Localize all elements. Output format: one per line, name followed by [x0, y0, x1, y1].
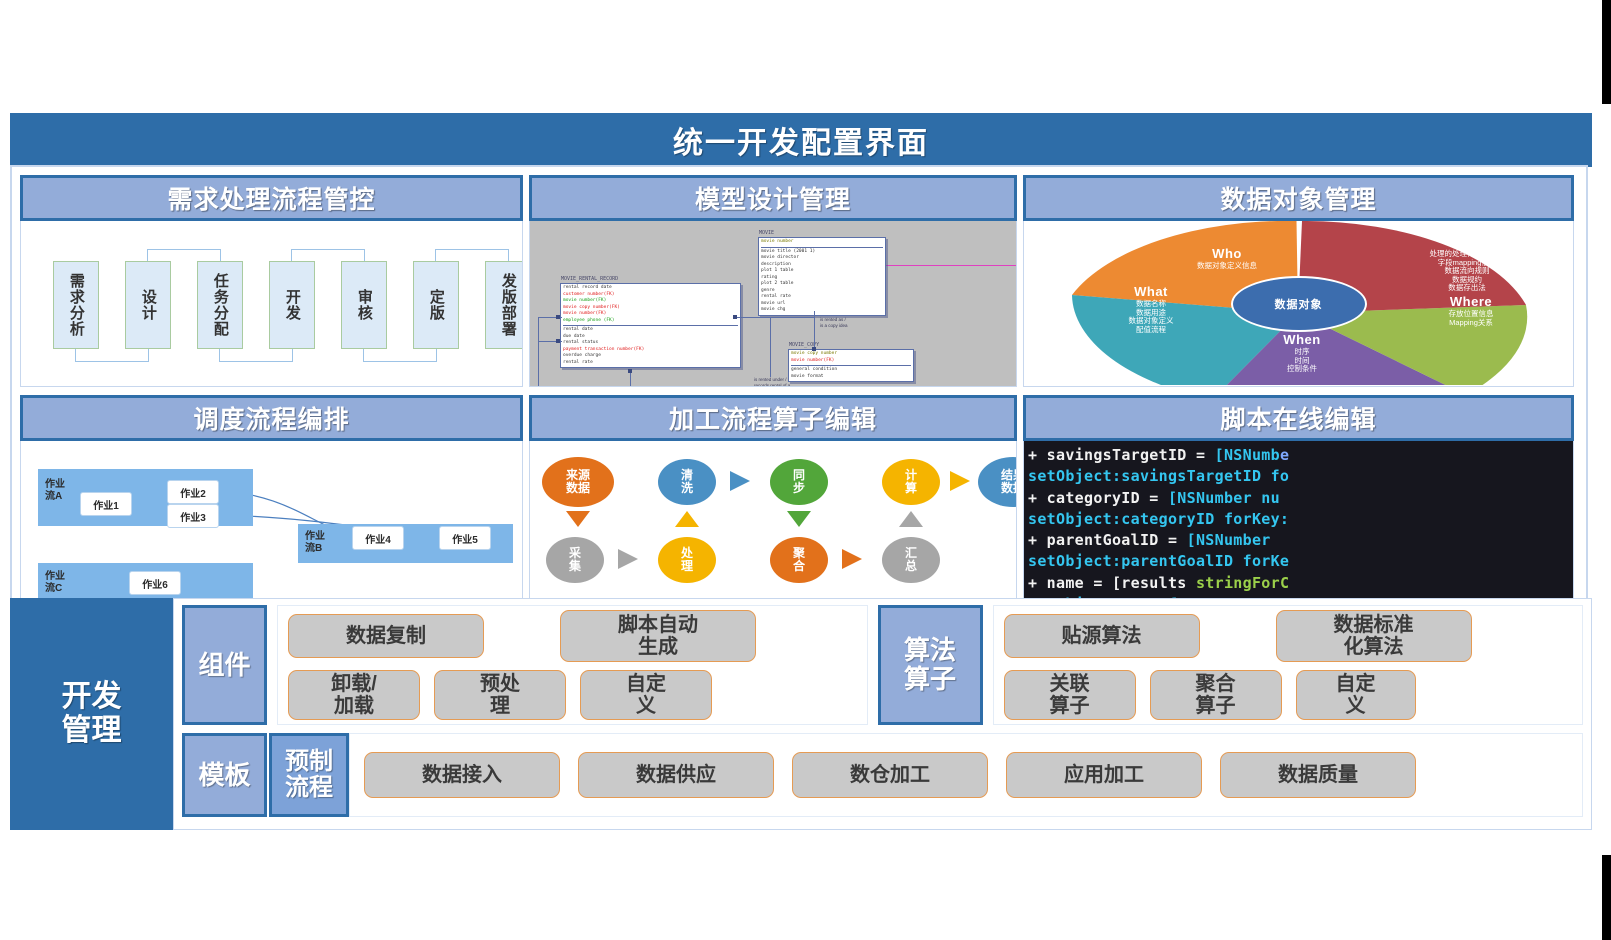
pill-warehouse-process[interactable]: 数仓加工: [792, 752, 988, 798]
arrow-up-process-cleanse: [675, 511, 699, 527]
panel-model-design-body: MOVIE movie number movie title (2001 1) …: [529, 221, 1017, 387]
panel-model-design-header: 模型设计管理: [529, 175, 1017, 221]
panel-data-object-body: Who 数据对象定义信息 What 数据名称 数据用途 数据对象定义 配值流程 …: [1023, 221, 1574, 387]
panel-scheduling-title: 调度流程编排: [193, 400, 349, 436]
panel-operators-title: 加工流程算子编辑: [669, 400, 877, 436]
category-prebuilt-flow[interactable]: 预制 流程: [269, 733, 349, 817]
operator-compute[interactable]: 计 算: [882, 459, 940, 505]
main-title-bar: 统一开发配置界面: [10, 113, 1592, 167]
algorithm-row-top: 贴源算法 数据标准 化算法: [1004, 610, 1573, 662]
category-template-label: 模板: [198, 761, 250, 790]
panel-operators-header: 加工流程算子编辑: [529, 395, 1017, 441]
pill-unload-load[interactable]: 卸载/ 加载: [288, 670, 420, 720]
flow-step-task-assign[interactable]: 任务分配: [197, 261, 243, 349]
panel-scheduling-header: 调度流程编排: [20, 395, 523, 441]
right-edge-strip-bottom: [1602, 855, 1611, 940]
job-2[interactable]: 作业2: [167, 480, 219, 504]
components-row-bottom: 卸载/ 加载 预处 理 自定 义: [288, 670, 857, 720]
pie-label-where: Where 存放位置信息 Mapping关系: [1396, 295, 1546, 327]
er-field: employee phone (FK): [563, 318, 738, 325]
code-line: setObject:parentGoalID forKe: [1028, 551, 1573, 572]
job-flow-a[interactable]: 作业 流A: [38, 469, 253, 526]
er-note-1: is rented as / is a copy idea: [820, 317, 848, 329]
pie-label-when: When 时序 时间 控制条件: [1242, 333, 1362, 374]
flow-connector-1: [75, 347, 149, 362]
panel-requirement[interactable]: 需求处理流程管控 需求分析 设计 任务分配 开发 审核 定版: [20, 175, 523, 387]
flow-step-requirement-analysis[interactable]: 需求分析: [53, 261, 99, 349]
dev-management-section: 开发 管理 组件 数据复制 脚本自动 生成 卸载/ 加载 预处 理 自定 义 算…: [10, 598, 1592, 830]
panel-requirement-header: 需求处理流程管控: [20, 175, 523, 221]
panel-script-editor-title: 脚本在线编辑: [1220, 400, 1376, 436]
er-note-2: is rented under / records rental of a: [754, 377, 790, 387]
er-table-movie-caption: MOVIE: [759, 230, 774, 237]
code-line: + categoryID = [NSNumber nu: [1028, 488, 1573, 509]
dev-management-label: 开发 管理: [62, 680, 122, 747]
flow-step-development[interactable]: 开发: [269, 261, 315, 349]
er-line-v2: [770, 317, 771, 377]
job-flow-c-label: 作业 流C: [45, 571, 65, 594]
code-line: setObject:savingsTargetID fo: [1028, 466, 1573, 487]
er-line-v3: [538, 317, 539, 387]
pill-data-supply[interactable]: 数据供应: [578, 752, 774, 798]
operator-summarize[interactable]: 汇 总: [882, 537, 940, 583]
pie-label-what: What 数据名称 数据用途 数据对象定义 配值流程: [1086, 285, 1216, 334]
job-3[interactable]: 作业3: [167, 504, 219, 528]
components-row-top: 数据复制 脚本自动 生成: [288, 610, 857, 662]
operator-cleanse[interactable]: 清 洗: [658, 459, 716, 505]
panel-model-design-title: 模型设计管理: [695, 180, 851, 216]
category-template[interactable]: 模板: [182, 733, 267, 817]
panel-data-object-header: 数据对象管理: [1023, 175, 1574, 221]
er-table-movie[interactable]: MOVIE movie number movie title (2001 1) …: [758, 237, 886, 316]
code-line: setObject:categoryID forKey:: [1028, 509, 1573, 530]
arrow-right-cleanse-sync: [730, 471, 750, 491]
arrow-up-summarize-compute: [899, 511, 923, 527]
operator-result-data[interactable]: 结果 数据: [978, 457, 1017, 507]
pill-data-ingestion[interactable]: 数据接入: [364, 752, 560, 798]
job-1[interactable]: 作业1: [80, 492, 132, 516]
arrow-down-sync-aggregate: [787, 511, 811, 527]
er-dot-6: [628, 369, 632, 373]
flow-step-release-deploy[interactable]: 发版部署: [485, 261, 523, 349]
er-dot-5: [812, 347, 816, 351]
dev-row-components: 组件 数据复制 脚本自动 生成 卸载/ 加载 预处 理 自定 义 算法 算子 贴…: [174, 599, 1591, 729]
code-line: + name = [results stringForC: [1028, 573, 1573, 594]
category-prebuilt-flow-label: 预制 流程: [285, 749, 333, 802]
panels-container: 需求处理流程管控 需求分析 设计 任务分配 开发 审核 定版: [10, 165, 1588, 639]
panel-data-object[interactable]: 数据对象管理: [1023, 175, 1574, 387]
panel-script-editor-header: 脚本在线编辑: [1023, 395, 1574, 441]
category-components-label: 组件: [198, 651, 250, 680]
flow-step-finalize[interactable]: 定版: [413, 261, 459, 349]
arrow-right-aggregate-summarize: [842, 549, 862, 569]
pie-center-label: 数据对象: [1275, 296, 1323, 312]
operator-aggregate[interactable]: 聚 合: [770, 537, 828, 583]
pill-data-replication[interactable]: 数据复制: [288, 614, 484, 658]
pie-label-who: Who 数据对象定义信息: [1152, 247, 1302, 271]
er-field: movie number: [761, 239, 883, 246]
er-table-movie-rental-record[interactable]: MOVIE_RENTAL_RECORD rental record date c…: [560, 283, 741, 368]
operator-source-data[interactable]: 来源 数据: [542, 457, 614, 507]
category-components[interactable]: 组件: [182, 605, 267, 725]
pill-source-algorithm[interactable]: 贴源算法: [1004, 614, 1200, 658]
category-algorithm-operators[interactable]: 算法 算子: [878, 605, 983, 725]
code-line: + parentGoalID = [NSNumber: [1028, 530, 1573, 551]
job-5[interactable]: 作业5: [439, 526, 491, 550]
er-relation-line-pink: [882, 265, 1017, 266]
er-field: movie chg: [761, 307, 883, 314]
pill-script-auto-generate[interactable]: 脚本自动 生成: [560, 610, 756, 662]
job-6[interactable]: 作业6: [129, 571, 181, 595]
job-flow-b-label: 作业 流B: [305, 531, 325, 554]
components-group: 数据复制 脚本自动 生成 卸载/ 加载 预处 理 自定 义: [277, 605, 868, 725]
flow-step-design[interactable]: 设计: [125, 261, 171, 349]
flow-connector-5: [363, 347, 437, 362]
right-edge-strip-top: [1602, 0, 1611, 104]
arrow-down-source-collect: [566, 511, 590, 527]
pill-preprocess[interactable]: 预处 理: [434, 670, 566, 720]
er-field: movie number(FK): [791, 358, 911, 365]
pie-label-how: How 处理的处理作业等方法 字段mapping信息 数据流向规则 数据规约 数…: [1382, 235, 1552, 293]
pill-custom-component[interactable]: 自定 义: [580, 670, 712, 720]
category-algorithm-operators-label: 算法 算子: [904, 636, 956, 693]
pie-center-bubble[interactable]: 数据对象: [1231, 276, 1367, 332]
er-field: movie format: [791, 374, 911, 381]
template-pills-box: 数据接入 数据供应 数仓加工 应用加工 数据质量: [349, 733, 1583, 817]
algorithm-row-bottom: 关联 算子 聚合 算子 自定 义: [1004, 670, 1573, 720]
dev-management-label-box: 开发 管理: [10, 598, 173, 830]
er-dot-3: [556, 339, 560, 343]
operator-process[interactable]: 处 理: [658, 537, 716, 583]
operator-sync[interactable]: 同 步: [770, 459, 828, 505]
er-table-rental-caption: MOVIE_RENTAL_RECORD: [561, 276, 618, 283]
job-flow-a-label: 作业 流A: [45, 479, 65, 502]
dev-row-templates: 模板 预制 流程 数据接入 数据供应 数仓加工 应用加工 数据质量: [174, 729, 1591, 825]
panel-requirement-title: 需求处理流程管控: [167, 180, 375, 216]
arrow-right-collect-process: [618, 549, 638, 569]
flow-connector-3: [219, 347, 293, 362]
er-diagram: MOVIE movie number movie title (2001 1) …: [530, 221, 1016, 386]
panel-data-object-title: 数据对象管理: [1220, 180, 1376, 216]
er-line-v4: [630, 371, 631, 387]
page-title: 统一开发配置界面: [673, 118, 929, 162]
er-dot-2: [556, 315, 560, 319]
er-field: rental rate: [563, 360, 738, 367]
panel-model-design[interactable]: 模型设计管理 MOVIE movie number movie title (2…: [529, 175, 1017, 387]
pill-join-operator[interactable]: 关联 算子: [1004, 670, 1136, 720]
data-object-pie-chart: Who 数据对象定义信息 What 数据名称 数据用途 数据对象定义 配值流程 …: [1024, 221, 1573, 386]
er-line-h1: [735, 317, 815, 318]
pill-aggregate-operator[interactable]: 聚合 算子: [1150, 670, 1282, 720]
er-table-movie-copy[interactable]: MOVIE_COPY movie copy number movie numbe…: [788, 349, 914, 382]
pill-application-process[interactable]: 应用加工: [1006, 752, 1202, 798]
job-4[interactable]: 作业4: [352, 526, 404, 550]
dev-management-content: 组件 数据复制 脚本自动 生成 卸载/ 加载 预处 理 自定 义 算法 算子 贴…: [173, 598, 1592, 830]
flow-step-review[interactable]: 审核: [341, 261, 387, 349]
arrow-right-compute-result: [950, 471, 970, 491]
pill-data-standardization-algorithm[interactable]: 数据标准 化算法: [1276, 610, 1472, 662]
operator-collect[interactable]: 采 集: [546, 537, 604, 583]
pill-data-quality[interactable]: 数据质量: [1220, 752, 1416, 798]
requirement-flow: 需求分析 设计 任务分配 开发 审核 定版 发版部署: [39, 243, 512, 363]
code-line: + savingsTargetID = [NSNumbe: [1028, 445, 1573, 466]
template-pills-wrap: 数据接入 数据供应 数仓加工 应用加工 数据质量: [349, 733, 1583, 817]
algorithm-operators-group: 贴源算法 数据标准 化算法 关联 算子 聚合 算子 自定 义: [993, 605, 1584, 725]
pill-custom-operator[interactable]: 自定 义: [1296, 670, 1416, 720]
er-dot-4: [733, 315, 737, 319]
panel-requirement-body: 需求分析 设计 任务分配 开发 审核 定版 发版部署: [20, 221, 523, 387]
